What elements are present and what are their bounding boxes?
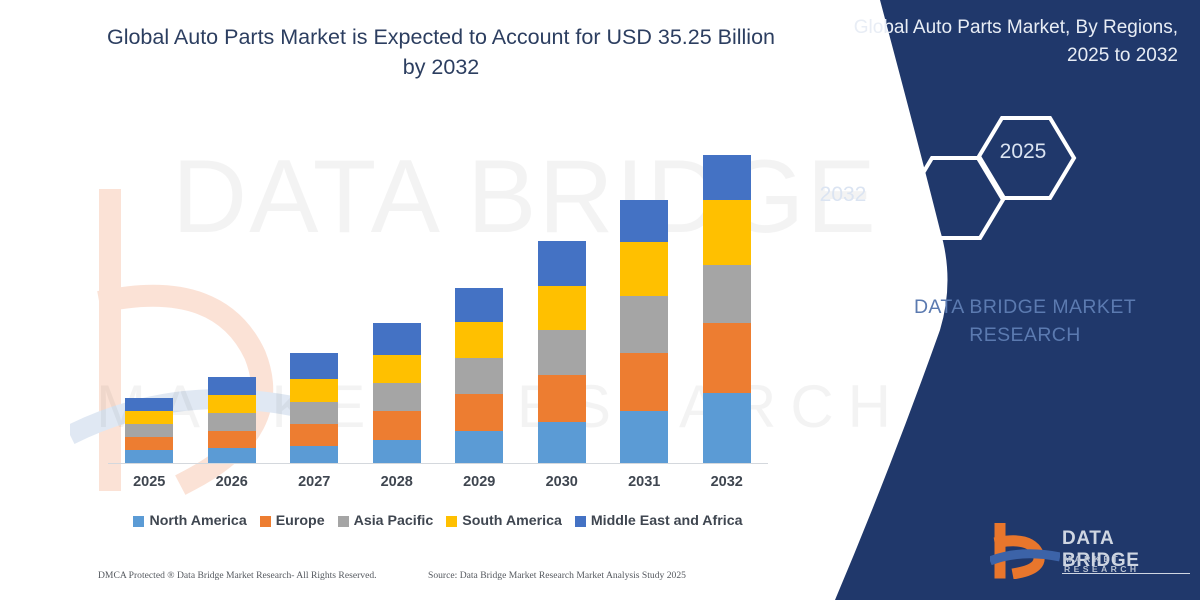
x-axis-label: 2025 bbox=[125, 474, 173, 490]
bar-column bbox=[373, 323, 421, 463]
x-axis-label: 2027 bbox=[290, 474, 338, 490]
legend-swatch-icon bbox=[260, 516, 271, 527]
bar-segment bbox=[620, 200, 668, 242]
chart-title: Global Auto Parts Market is Expected to … bbox=[96, 22, 786, 82]
bar-segment bbox=[703, 323, 751, 393]
bar-column bbox=[455, 288, 503, 463]
chart-legend: North AmericaEuropeAsia PacificSouth Ame… bbox=[108, 513, 768, 529]
legend-label: Asia Pacific bbox=[354, 513, 434, 529]
bar-segment bbox=[208, 431, 256, 448]
legend-label: South America bbox=[462, 513, 562, 529]
bar-column bbox=[290, 353, 338, 463]
bar-segment bbox=[290, 402, 338, 424]
footer-copyright: DMCA Protected ® Data Bridge Market Rese… bbox=[98, 570, 377, 581]
stacked-bar bbox=[208, 377, 256, 463]
legend-label: Middle East and Africa bbox=[591, 513, 743, 529]
bar-segment bbox=[125, 424, 173, 437]
bar-segment bbox=[455, 394, 503, 431]
x-axis-label: 2026 bbox=[208, 474, 256, 490]
bar-column bbox=[620, 200, 668, 463]
bar-segment bbox=[538, 286, 586, 330]
legend-swatch-icon bbox=[338, 516, 349, 527]
bar-segment bbox=[538, 422, 586, 463]
x-axis-label: 2032 bbox=[703, 474, 751, 490]
bar-segment bbox=[208, 395, 256, 413]
bar-segment bbox=[620, 296, 668, 353]
bar-segment bbox=[373, 383, 421, 411]
bar-segment bbox=[455, 358, 503, 394]
bar-segment bbox=[455, 288, 503, 322]
x-axis-label: 2028 bbox=[373, 474, 421, 490]
hexagon-2032-icon bbox=[908, 158, 1004, 238]
bar-segment bbox=[373, 411, 421, 440]
chart-bars bbox=[108, 110, 768, 463]
infographic-root: DATA BRIDGE MARKET RESEARCH Global Auto … bbox=[0, 0, 1200, 600]
bar-segment bbox=[620, 242, 668, 296]
bar-segment bbox=[208, 377, 256, 395]
footer-source: Source: Data Bridge Market Research Mark… bbox=[428, 570, 686, 581]
bar-segment bbox=[373, 323, 421, 355]
bar-segment bbox=[620, 411, 668, 463]
legend-swatch-icon bbox=[446, 516, 457, 527]
right-panel: Global Auto Parts Market, By Regions, 20… bbox=[780, 0, 1200, 600]
legend-item[interactable]: Asia Pacific bbox=[338, 513, 434, 529]
bar-segment bbox=[703, 265, 751, 323]
stacked-bar bbox=[620, 200, 668, 463]
bar-column bbox=[125, 398, 173, 463]
legend-item[interactable]: Europe bbox=[260, 513, 325, 529]
stacked-bar bbox=[125, 398, 173, 463]
hexagon-group-icon bbox=[890, 110, 1120, 240]
legend-item[interactable]: Middle East and Africa bbox=[575, 513, 743, 529]
legend-label: North America bbox=[149, 513, 246, 529]
bar-segment bbox=[208, 448, 256, 463]
legend-item[interactable]: North America bbox=[133, 513, 246, 529]
data-bridge-logo-icon bbox=[990, 523, 1060, 579]
bar-segment bbox=[703, 155, 751, 200]
bar-segment bbox=[455, 322, 503, 358]
bar-segment bbox=[125, 437, 173, 450]
bar-segment bbox=[290, 353, 338, 379]
bar-segment bbox=[703, 200, 751, 265]
x-axis-labels: 20252026202720282029203020312032 bbox=[108, 474, 768, 490]
bar-segment bbox=[620, 353, 668, 411]
hexagon-label-2032: 2032 bbox=[798, 183, 888, 207]
x-axis-line bbox=[108, 463, 768, 464]
bar-segment bbox=[125, 411, 173, 424]
x-axis-label: 2029 bbox=[455, 474, 503, 490]
stacked-bar bbox=[538, 241, 586, 463]
bar-column bbox=[703, 155, 751, 463]
bar-segment bbox=[290, 446, 338, 463]
panel-title: Global Auto Parts Market, By Regions, 20… bbox=[838, 14, 1178, 70]
bar-segment bbox=[538, 375, 586, 422]
logo-sub-text: MARKET RESEARCH bbox=[1064, 554, 1190, 574]
bar-segment bbox=[703, 393, 751, 463]
bar-segment bbox=[538, 241, 586, 286]
hexagon-label-2025: 2025 bbox=[978, 140, 1068, 164]
bar-segment bbox=[208, 413, 256, 431]
bar-segment bbox=[290, 424, 338, 446]
data-bridge-logo: DATA BRIDGE MARKET RESEARCH bbox=[990, 523, 1190, 579]
legend-swatch-icon bbox=[575, 516, 586, 527]
bar-segment bbox=[125, 398, 173, 411]
bar-segment bbox=[538, 330, 586, 375]
panel-brand-text: DATA BRIDGE MARKET RESEARCH bbox=[875, 293, 1175, 349]
stacked-bar bbox=[703, 155, 751, 463]
legend-item[interactable]: South America bbox=[446, 513, 562, 529]
stacked-bar bbox=[290, 353, 338, 463]
bar-segment bbox=[455, 431, 503, 463]
bar-segment bbox=[373, 355, 421, 383]
bar-segment bbox=[373, 440, 421, 463]
legend-swatch-icon bbox=[133, 516, 144, 527]
x-axis-label: 2031 bbox=[620, 474, 668, 490]
stacked-bar bbox=[455, 288, 503, 463]
bar-segment bbox=[290, 379, 338, 402]
stacked-bar bbox=[373, 323, 421, 463]
bar-column bbox=[538, 241, 586, 463]
legend-label: Europe bbox=[276, 513, 325, 529]
x-axis-label: 2030 bbox=[538, 474, 586, 490]
bar-segment bbox=[125, 450, 173, 463]
bar-column bbox=[208, 377, 256, 463]
